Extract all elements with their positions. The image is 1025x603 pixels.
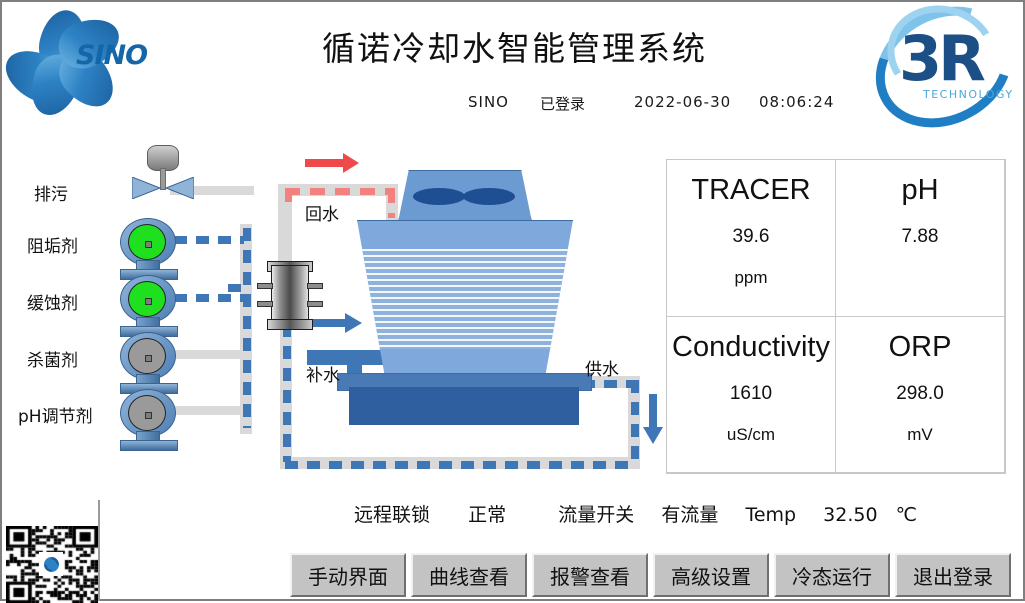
valve-body-icon xyxy=(132,177,194,199)
dosing-label-scale-inhibitor: 阻垢剂 xyxy=(27,232,78,257)
label-return-water: 回水 xyxy=(305,200,339,225)
button-manual-screen[interactable]: 手动界面 xyxy=(290,553,406,597)
label-supply-water: 供水 xyxy=(585,355,619,380)
vessel-bottom-cap-icon xyxy=(267,319,313,330)
measurement-card-ph: pH 7.88 xyxy=(835,159,1005,317)
measurement-value: 298.0 xyxy=(896,383,944,405)
pump-status-indicator xyxy=(128,338,166,374)
measurement-unit: ppm xyxy=(734,268,767,288)
label-makeup-water: 补水 xyxy=(306,361,340,386)
status-bar: 远程联锁 正常 流量开关 有流量 Temp 32.50 ℃ xyxy=(354,500,917,527)
vessel-nozzle-left-lower-icon xyxy=(257,301,273,307)
measurement-name: ORP xyxy=(889,331,952,364)
button-cold-run[interactable]: 冷态运行 xyxy=(774,553,890,597)
measurement-unit: mV xyxy=(907,425,933,445)
status-temp-unit: ℃ xyxy=(896,504,917,526)
biocide-pipe-backing xyxy=(172,350,252,359)
cooling-tower-louvres-icon xyxy=(346,249,584,349)
vessel-nozzle-right-upper-icon xyxy=(307,283,323,289)
login-status: 已登录 xyxy=(540,93,585,114)
qr-code xyxy=(6,526,98,603)
exchanger-inlet-pipe xyxy=(228,284,246,292)
measurement-unit: uS/cm xyxy=(727,425,775,445)
qr-center-logo-icon xyxy=(39,552,63,576)
system-date: 2022-06-30 xyxy=(634,93,731,111)
measurement-card-orp: ORP 298.0 mV xyxy=(835,316,1005,474)
dosing-label-ph-adjuster: pH调节剂 xyxy=(18,402,93,427)
status-flow-label: 流量开关 xyxy=(558,500,634,527)
status-flow-value: 有流量 xyxy=(661,500,718,527)
cooling-tower-basin xyxy=(349,387,579,425)
pump-ph-adjuster[interactable] xyxy=(120,389,178,439)
button-trend-view[interactable]: 曲线查看 xyxy=(411,553,527,597)
return-pipe-down-right xyxy=(388,188,395,218)
fan-blade-left-icon xyxy=(413,188,465,205)
pump-base-icon xyxy=(120,440,178,451)
dosing-label-corrosion-inhibitor: 缓蚀剂 xyxy=(27,289,78,314)
3r-technology-logo: 3R TECHNOLOGY xyxy=(867,4,1017,112)
dosing-label-biocide: 杀菌剂 xyxy=(27,346,78,371)
measurement-name: TRACER xyxy=(691,174,810,207)
measurement-name: Conductivity xyxy=(672,331,830,364)
measurement-value: 39.6 xyxy=(733,226,770,248)
measurement-value: 7.88 xyxy=(902,226,939,248)
supply-pipe-right xyxy=(631,380,639,462)
application-window: SINO 循诺冷却水智能管理系统 SINO 已登录 2022-06-30 08:… xyxy=(0,0,1025,601)
pump-status-indicator xyxy=(128,281,166,317)
status-temp-value: 32.50 xyxy=(823,504,877,526)
fan-blade-right-icon xyxy=(463,188,515,205)
pump-status-indicator xyxy=(128,395,166,431)
blowdown-valve[interactable] xyxy=(124,145,200,197)
pump-scale-inhibitor[interactable] xyxy=(120,218,178,268)
button-logout[interactable]: 退出登录 xyxy=(895,553,1011,597)
3r-logo-text: 3R xyxy=(899,22,982,95)
status-interlock-label: 远程联锁 xyxy=(354,500,430,527)
measurement-panel: TRACER 39.6 ppm pH 7.88 Conductivity 161… xyxy=(666,159,1006,474)
vessel-nozzle-left-upper-icon xyxy=(257,283,273,289)
measurement-name: pH xyxy=(901,174,938,207)
footer-divider xyxy=(98,500,100,601)
return-pipe-horizontal xyxy=(285,188,395,195)
pump-corrosion-inhibitor[interactable] xyxy=(120,275,178,325)
analyzer-vessel[interactable] xyxy=(267,257,313,335)
loop-pipe-bottom xyxy=(285,461,635,469)
3r-logo-subtext: TECHNOLOGY xyxy=(923,88,1014,101)
corrosion-inhibitor-feed-pipe xyxy=(174,294,244,302)
pump-status-indicator xyxy=(128,224,166,260)
supply-flow-arrow-icon xyxy=(642,394,664,444)
cooling-tower-fan-housing xyxy=(398,170,532,222)
dosing-label-blowdown: 排污 xyxy=(34,180,68,205)
button-alarm-view[interactable]: 报警查看 xyxy=(532,553,648,597)
dosing-riser-pipe xyxy=(243,228,251,428)
pump-biocide[interactable] xyxy=(120,332,178,382)
makeup-flow-arrow-icon xyxy=(312,312,362,334)
measurement-card-conductivity: Conductivity 1610 uS/cm xyxy=(666,316,836,474)
measurement-card-tracer: TRACER 39.6 ppm xyxy=(666,159,836,317)
button-advanced-settings[interactable]: 高级设置 xyxy=(653,553,769,597)
button-bar: 手动界面 曲线查看 报警查看 高级设置 冷态运行 退出登录 xyxy=(290,553,1011,597)
status-interlock-value: 正常 xyxy=(468,500,506,527)
status-temp-label: Temp xyxy=(745,504,796,526)
measurement-value: 1610 xyxy=(730,383,772,405)
return-flow-arrow-icon xyxy=(305,152,360,174)
vessel-nozzle-right-lower-icon xyxy=(307,301,323,307)
ph-pipe-backing xyxy=(172,406,252,415)
system-time: 08:06:24 xyxy=(759,93,834,111)
scale-inhibitor-feed-pipe xyxy=(174,236,244,244)
current-user: SINO xyxy=(468,93,509,111)
